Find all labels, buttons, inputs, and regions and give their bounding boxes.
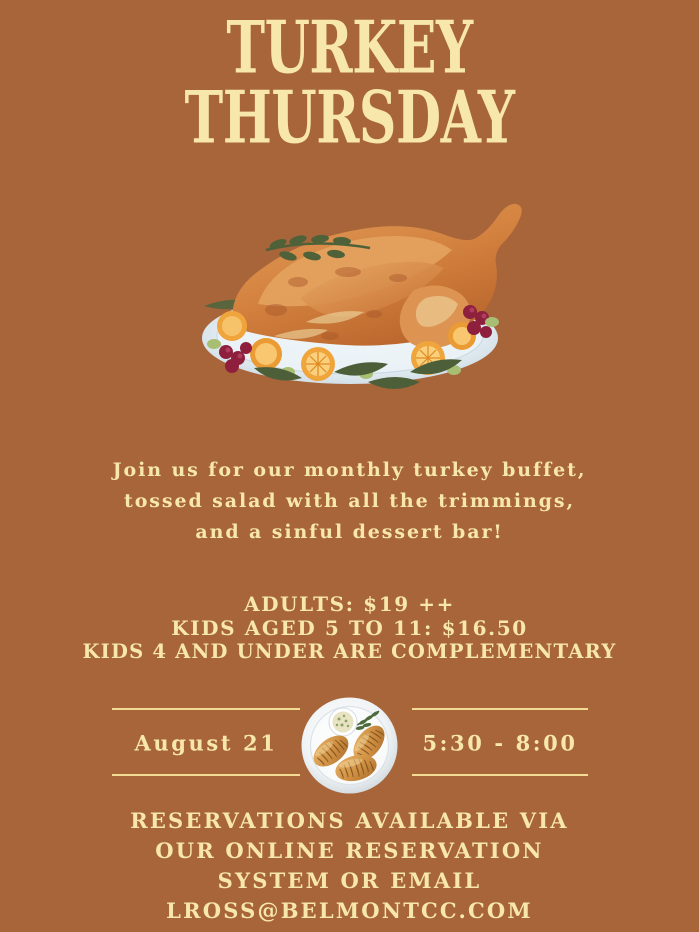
lede-line-1: Join us for our monthly turkey buffet,	[0, 455, 699, 486]
date-rule-bottom	[112, 774, 300, 776]
price-kids-under-4: KIDS 4 AND UNDER ARE COMPLEMENTARY	[0, 640, 699, 664]
contact-email: LROSS@BELMONTCC.COM	[0, 896, 699, 926]
event-time-cell: 5:30 - 8:00	[412, 697, 588, 789]
lede-line-3: and a sinful dessert bar!	[0, 517, 699, 548]
price-adults: ADULTS: $19 ++	[0, 592, 699, 616]
event-date-cell: August 21	[112, 697, 300, 789]
date-rule-top	[112, 708, 300, 710]
lede-paragraph: Join us for our monthly turkey buffet, t…	[0, 455, 699, 548]
time-rule-top	[412, 708, 588, 710]
lede-line-2: tossed salad with all the trimmings,	[0, 486, 699, 517]
poster-canvas: TURKEY THURSDAY	[0, 0, 699, 932]
reservation-footer: RESERVATIONS AVAILABLE VIA OUR ONLINE RE…	[0, 806, 699, 926]
footer-line-2: OUR ONLINE RESERVATION	[0, 836, 699, 866]
event-time: 5:30 - 8:00	[412, 731, 588, 756]
event-date: August 21	[112, 731, 300, 756]
pricing-block: ADULTS: $19 ++ KIDS AGED 5 TO 11: $16.50…	[0, 592, 699, 664]
turkey-icon	[170, 186, 530, 401]
title-line-2: THURSDAY	[0, 86, 699, 152]
time-rule-bottom	[412, 774, 588, 776]
title-line-1: TURKEY	[0, 16, 699, 82]
poster-title: TURKEY THURSDAY	[0, 16, 699, 134]
price-kids-5-11: KIDS AGED 5 TO 11: $16.50	[0, 616, 699, 640]
roast-turkey-illustration	[0, 186, 699, 406]
footer-line-3: SYSTEM OR EMAIL	[0, 866, 699, 896]
potato-plate-icon	[299, 695, 400, 796]
hasselback-potatoes-illustration	[299, 695, 400, 796]
footer-line-1: RESERVATIONS AVAILABLE VIA	[0, 806, 699, 836]
